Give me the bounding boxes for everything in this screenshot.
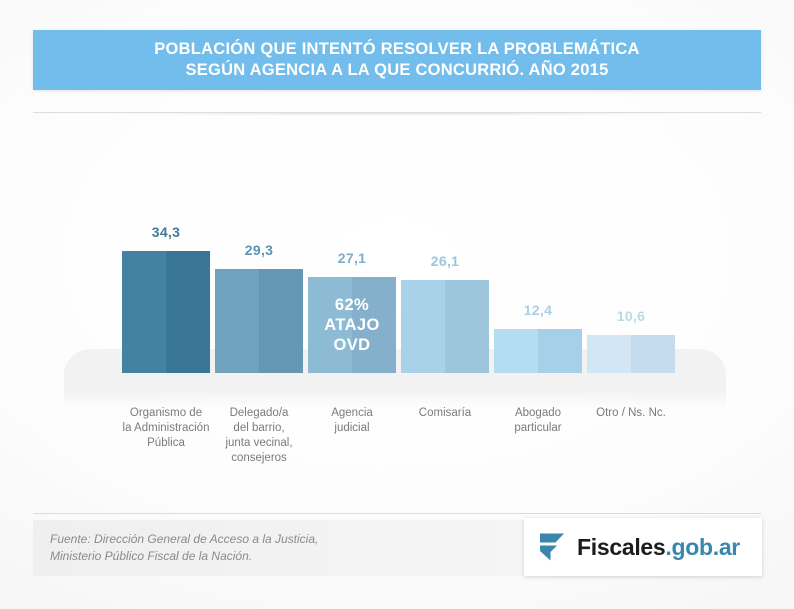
- category-label-line: particular: [481, 421, 595, 436]
- bar[interactable]: [494, 329, 582, 373]
- bar-half-right: [352, 277, 396, 373]
- bar[interactable]: [587, 335, 675, 373]
- bar[interactable]: [401, 280, 489, 373]
- bar[interactable]: [308, 277, 396, 373]
- bar-half-left: [494, 329, 538, 373]
- bar[interactable]: [215, 269, 303, 373]
- bar-value-label: 10,6: [587, 308, 675, 324]
- category-label-line: judicial: [295, 421, 409, 436]
- bar-half-left: [587, 335, 631, 373]
- category-label: Otro / Ns. Nc.: [574, 406, 688, 421]
- bar-half-right: [445, 280, 489, 373]
- bar-half-left: [401, 280, 445, 373]
- source-line-1: Fuente: Dirección General de Acceso a la…: [50, 531, 318, 548]
- source-line-2: Ministerio Público Fiscal de la Nación.: [50, 548, 318, 565]
- bar-group: 29,3Delegado/adel barrio,junta vecinal,c…: [215, 0, 303, 609]
- logo-text-dark: Fiscales: [577, 534, 665, 560]
- bar-group: 26,1Comisaría: [401, 0, 489, 609]
- bar-value-label: 34,3: [122, 224, 210, 240]
- infographic-poster: POBLACIÓN QUE INTENTÓ RESOLVER LA PROBLE…: [0, 0, 794, 609]
- fiscales-logo[interactable]: Fiscales.gob.ar: [524, 518, 762, 576]
- category-label-line: Otro / Ns. Nc.: [574, 406, 688, 421]
- bar-value-label: 29,3: [215, 242, 303, 258]
- logo-text-blue: .gob.ar: [665, 534, 740, 560]
- fiscales-logo-text: Fiscales.gob.ar: [577, 534, 740, 561]
- bar-half-right: [631, 335, 675, 373]
- category-label-line: junta vecinal,: [202, 436, 316, 451]
- bar-half-right: [259, 269, 303, 373]
- fiscales-flag-mark-icon: [540, 532, 566, 562]
- bar-value-label: 27,1: [308, 250, 396, 266]
- bar-value-label: 12,4: [494, 302, 582, 318]
- category-label-line: consejeros: [202, 451, 316, 466]
- bar-half-right: [166, 251, 210, 373]
- bar-half-right: [538, 329, 582, 373]
- bar-group: 34,3Organismo dela AdministraciónPública: [122, 0, 210, 609]
- source-note: Fuente: Dirección General de Acceso a la…: [50, 531, 318, 565]
- bar-half-left: [122, 251, 166, 373]
- bar-half-left: [215, 269, 259, 373]
- bar-value-label: 26,1: [401, 253, 489, 269]
- footer-divider: [33, 513, 761, 514]
- bar[interactable]: [122, 251, 210, 373]
- bar-group: 27,162%ATAJOOVDAgenciajudicial: [308, 0, 396, 609]
- bar-half-left: [308, 277, 352, 373]
